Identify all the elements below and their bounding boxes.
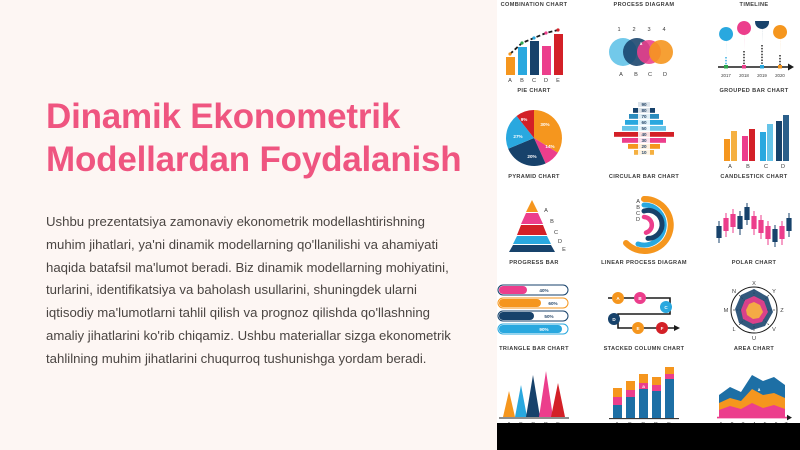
svg-text:E: E	[636, 326, 639, 331]
svg-text:D: D	[778, 39, 782, 44]
linear-process-diagram-art: A B C D E F	[589, 275, 699, 344]
svg-text:D: D	[558, 239, 562, 245]
svg-text:E: E	[556, 78, 560, 83]
triangle-bar-chart-art: A B C D E	[497, 361, 589, 430]
cell-title: TIMELINE	[740, 2, 769, 17]
svg-text:4: 4	[662, 27, 665, 33]
svg-text:C: C	[760, 29, 764, 34]
cell-combination-chart: COMBINATION CHART A	[497, 0, 589, 86]
svg-text:B: B	[520, 78, 524, 83]
cell-title: PROGRESS BAR	[509, 260, 559, 275]
svg-text:M: M	[724, 308, 729, 314]
svg-text:C: C	[764, 164, 768, 169]
cell-title: PIE CHART	[517, 88, 550, 103]
cell-pie-chart: PIE CHART 30% 14% 20% 27%	[497, 86, 589, 172]
svg-text:B: B	[742, 35, 746, 40]
pyramid-chart-art: A B C D E	[497, 189, 589, 258]
svg-text:a: a	[758, 387, 761, 392]
cell-title: GROUPED BAR CHART	[719, 88, 788, 103]
svg-text:L: L	[732, 327, 735, 333]
svg-text:a: a	[640, 41, 643, 46]
svg-text:D: D	[781, 164, 785, 169]
svg-text:A: A	[508, 78, 512, 83]
cell-triangle-bar-chart: TRIANGLE BAR CHART A B C D E	[497, 344, 589, 430]
svg-text:B: B	[746, 164, 750, 169]
slide-body-text: Ushbu prezentatsiya zamonaviy ekonometri…	[46, 211, 463, 370]
cell-stacked-column-chart: STACKED COLUMN CHART	[589, 344, 699, 430]
cell-title: CIRCULAR BAR CHART	[609, 174, 679, 189]
circular-bar-chart-art: A B C D	[589, 189, 699, 258]
svg-text:40%: 40%	[539, 288, 548, 293]
cell-title: CANDLESTICK CHART	[720, 174, 787, 189]
svg-text:80: 80	[641, 108, 647, 113]
svg-text:D: D	[663, 72, 667, 78]
age-pyramid-art: AGE PYRAMID	[589, 88, 699, 172]
pie-chart-art: 30% 14% 20% 27% 9%	[497, 103, 589, 172]
cell-title: COMBINATION CHART	[501, 2, 568, 17]
svg-text:2018: 2018	[739, 73, 749, 78]
presentation-slide: Dinamik Ekonometrik Modellardan Foydalan…	[0, 0, 800, 450]
svg-text:40: 40	[641, 132, 647, 137]
svg-text:90%: 90%	[539, 327, 548, 332]
svg-text:A: A	[544, 208, 548, 214]
chart-type-grid: COMBINATION CHART A	[497, 0, 800, 430]
cell-title: PROCESS DIAGRAM	[614, 2, 675, 17]
cell-title: LINEAR PROCESS DIAGRAM	[601, 260, 687, 275]
svg-text:20%: 20%	[527, 154, 536, 159]
progress-bar-art: 40% 60% 50%	[497, 275, 589, 344]
svg-text:V: V	[772, 327, 776, 333]
bottom-black-bar	[497, 423, 800, 450]
polar-chart-art: X Y Z V U L M N	[699, 275, 800, 344]
svg-text:27%: 27%	[513, 134, 522, 139]
area-chart-art: a 1 2 3 4 5 6 7	[699, 361, 800, 430]
svg-text:90: 90	[641, 102, 647, 107]
cell-title: AREA CHART	[734, 346, 774, 361]
svg-text:10: 10	[641, 150, 647, 155]
svg-text:a: a	[642, 384, 645, 389]
svg-text:30%: 30%	[540, 122, 549, 127]
cell-candlestick-chart: CANDLESTICK CHART	[699, 172, 800, 258]
svg-text:3: 3	[647, 27, 650, 33]
svg-text:2017: 2017	[721, 73, 731, 78]
text-panel: Dinamik Ekonometrik Modellardan Foydalan…	[0, 0, 497, 450]
cell-title: STACKED COLUMN CHART	[604, 346, 685, 361]
cell-title: PYRAMID CHART	[508, 174, 559, 189]
cell-title: AGE PYRAMID	[589, 86, 699, 89]
svg-text:E: E	[562, 247, 566, 253]
grouped-bar-chart-art: A B C D	[699, 103, 800, 172]
svg-text:60%: 60%	[548, 301, 557, 306]
svg-text:70: 70	[641, 114, 647, 119]
svg-text:C: C	[554, 230, 558, 236]
svg-text:2: 2	[632, 27, 635, 33]
svg-text:D: D	[544, 78, 548, 83]
cell-title: TRIANGLE BAR CHART	[499, 346, 569, 361]
svg-text:A: A	[724, 41, 728, 46]
svg-text:14%: 14%	[545, 144, 554, 149]
cell-timeline: TIMELINE A 2017	[699, 0, 800, 86]
svg-text:D: D	[636, 217, 640, 223]
svg-text:Y: Y	[772, 289, 776, 295]
cell-polar-chart: POLAR CHART	[699, 258, 800, 344]
cell-title: POLAR CHART	[732, 260, 777, 275]
svg-text:20: 20	[641, 144, 647, 149]
cell-process-diagram: PROCESS DIAGRAM 1 2 3 4 a A B C	[589, 0, 699, 86]
svg-text:30: 30	[641, 138, 647, 143]
svg-text:A: A	[619, 72, 623, 78]
candlestick-chart-art	[699, 189, 800, 258]
svg-text:9%: 9%	[521, 117, 528, 122]
cell-grouped-bar-chart: GROUPED BAR CHART A B C D	[699, 86, 800, 172]
svg-text:2019: 2019	[757, 73, 767, 78]
process-diagram-art: 1 2 3 4 a A B C D	[589, 17, 699, 86]
svg-text:C: C	[532, 78, 536, 83]
combination-chart-art: A B C D E	[497, 17, 589, 86]
svg-text:U: U	[752, 336, 756, 340]
cell-progress-bar: PROGRESS BAR 40% 60%	[497, 258, 589, 344]
cell-age-pyramid: AGE PYRAMID	[589, 86, 699, 172]
svg-text:F: F	[661, 326, 664, 331]
cell-circular-bar-chart: CIRCULAR BAR CHART A B C D	[589, 172, 699, 258]
svg-text:Z: Z	[780, 308, 784, 314]
cell-pyramid-chart: PYRAMID CHART A B C D E	[497, 172, 589, 258]
svg-text:2020: 2020	[775, 73, 785, 78]
infographic-panel: COMBINATION CHART A	[497, 0, 800, 450]
svg-text:B: B	[634, 72, 638, 78]
svg-text:50: 50	[641, 126, 647, 131]
page-title: Dinamik Ekonometrik Modellardan Foydalan…	[46, 96, 463, 181]
svg-text:X: X	[752, 281, 756, 287]
stacked-column-chart-art: a A B	[589, 361, 699, 430]
svg-text:50%: 50%	[544, 314, 553, 319]
timeline-art: A 2017 B 2018	[699, 17, 800, 86]
svg-text:A: A	[728, 164, 732, 169]
cell-linear-process-diagram: LINEAR PROCESS DIAGRAM A B C D E F	[589, 258, 699, 344]
svg-text:N: N	[732, 289, 736, 295]
svg-text:60: 60	[641, 120, 647, 125]
svg-text:1: 1	[617, 27, 620, 33]
svg-text:B: B	[550, 219, 554, 225]
cell-area-chart: AREA CHART a 1 2 3 4 5 6	[699, 344, 800, 430]
svg-text:C: C	[648, 72, 652, 78]
